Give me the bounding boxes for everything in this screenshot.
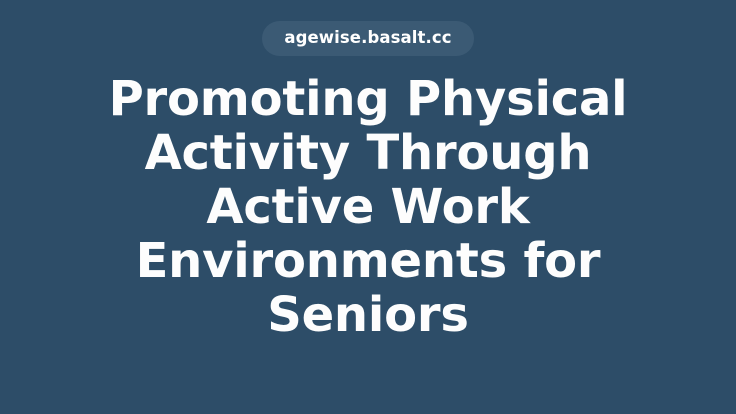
page-title: Promoting Physical Activity Through Acti… <box>0 72 736 342</box>
social-share-card: agewise.basalt.cc Promoting Physical Act… <box>0 0 736 414</box>
domain-badge-label: agewise.basalt.cc <box>284 30 451 47</box>
badge-row: agewise.basalt.cc <box>0 21 736 56</box>
page-title-line-1: Promoting Physical <box>40 72 696 126</box>
page-title-line-5: Seniors <box>40 288 696 342</box>
domain-badge: agewise.basalt.cc <box>262 21 473 56</box>
page-title-line-4: Environments for <box>40 234 696 288</box>
page-title-line-3: Active Work <box>40 180 696 234</box>
page-title-line-2: Activity Through <box>40 126 696 180</box>
